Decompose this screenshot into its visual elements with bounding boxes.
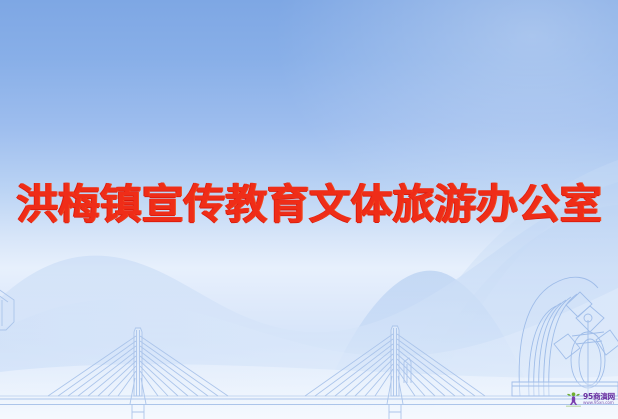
watermark-text-block: 95商演网 www.95xn.com bbox=[583, 393, 615, 406]
banner-title-row: 洪梅镇宣传教育文体旅游办公室 bbox=[0, 176, 618, 232]
left-edge-structure bbox=[0, 286, 14, 330]
page-title: 洪梅镇宣传教育文体旅游办公室 bbox=[16, 184, 601, 225]
watermark-site-name: 95商演网 bbox=[583, 393, 615, 401]
arc-landmark-sculpture bbox=[512, 277, 618, 396]
bridge-pylon-left bbox=[48, 328, 228, 419]
watermark: 95商演网 www.95xn.com bbox=[566, 389, 616, 409]
bridge-pylon-right bbox=[305, 326, 485, 419]
promo-banner: 洪梅镇宣传教育文体旅游办公室 95商演网 www.95xn.com bbox=[0, 0, 618, 419]
watermark-site-url: www.95xn.com bbox=[583, 401, 615, 405]
watermark-logo-icon bbox=[566, 391, 581, 407]
bridge-deck bbox=[0, 396, 618, 405]
